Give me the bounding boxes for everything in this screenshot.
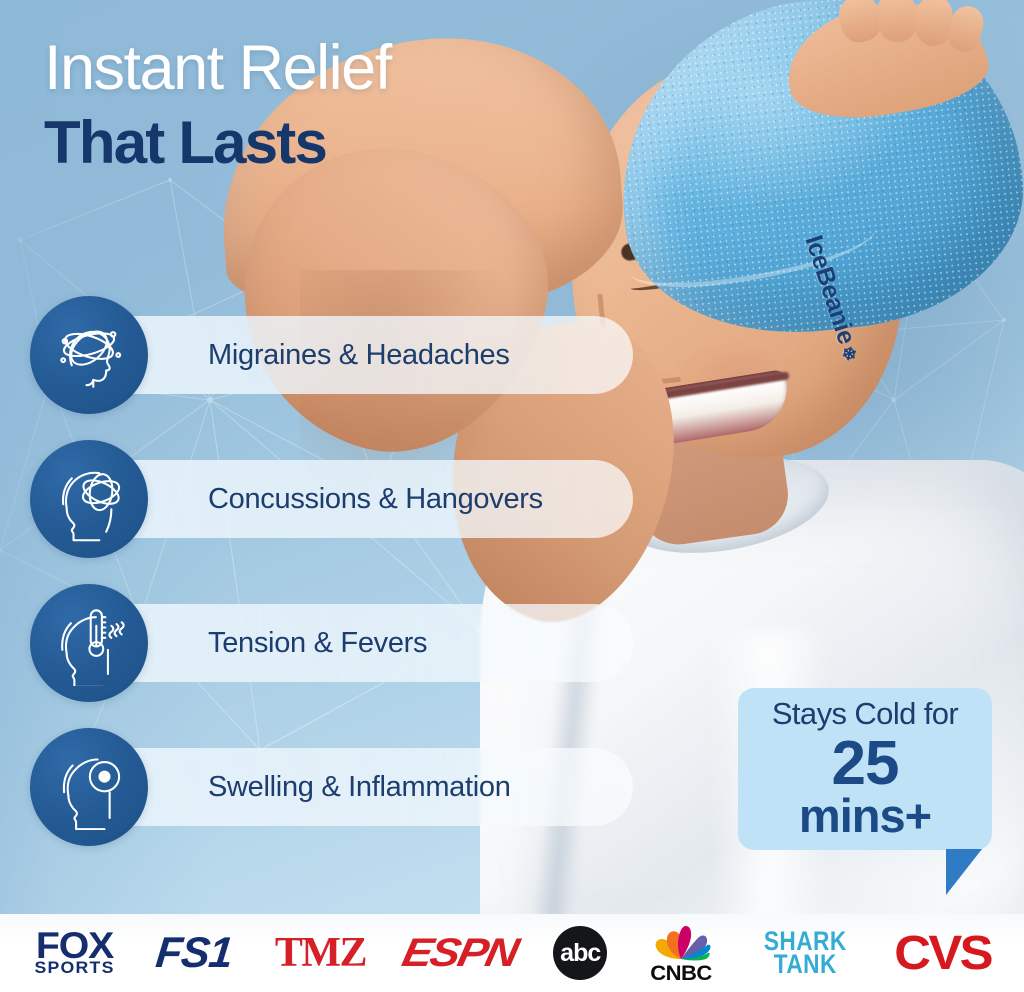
cold-badge-number: 25 — [738, 735, 992, 793]
feature-label: Tension & Fevers — [208, 627, 427, 660]
cold-badge-caption: Stays Cold for — [772, 696, 958, 731]
cold-badge-pointer — [946, 849, 982, 895]
cnbc-text: CNBC — [649, 962, 714, 986]
press-logo-fox-sports: FOX SPORTS — [36, 930, 113, 975]
fox-sports-secondary: SPORTS — [34, 961, 114, 975]
press-logo-shark-tank: SHARK TANK — [756, 930, 855, 976]
press-logo-espn: ESPN — [409, 931, 510, 976]
feature-label: Migraines & Headaches — [208, 339, 510, 372]
tmz-text: TMZ — [275, 929, 366, 977]
cnbc-peacock-icon — [650, 921, 712, 961]
head-thermometer-icon — [30, 584, 148, 702]
press-logo-cnbc: CNBC — [650, 921, 712, 986]
feature-pill: Swelling & Inflammation — [88, 748, 633, 826]
page-title: Instant Relief That Lasts — [44, 38, 391, 173]
press-logo-cvs: CVS — [897, 926, 988, 981]
feature-pill: Migraines & Headaches — [88, 316, 633, 394]
headline-line-1: Instant Relief — [44, 38, 391, 100]
fox-sports-primary: FOX — [33, 930, 115, 961]
head-orbit-icon — [30, 440, 148, 558]
head-dizzy-icon — [30, 296, 148, 414]
espn-text: ESPN — [398, 931, 521, 976]
cold-badge-unit: mins+ — [738, 793, 992, 839]
shark-tank-line-2: TANK — [763, 953, 846, 976]
headline-line-2: That Lasts — [44, 114, 391, 173]
cvs-text: CVS — [894, 926, 991, 981]
abc-text: abc — [553, 926, 607, 980]
fs1-text: FS1 — [153, 929, 234, 978]
press-logo-bar: FOX SPORTS FS1 TMZ ESPN abc — [0, 914, 1024, 992]
feature-pill: Concussions & Hangovers — [88, 460, 633, 538]
head-swelling-icon — [30, 728, 148, 846]
feature-label: Concussions & Hangovers — [208, 483, 543, 516]
feature-pill: Tension & Fevers — [88, 604, 633, 682]
ad-creative: IceBeanie❄ Instant Relief That Lasts Mig… — [0, 0, 1024, 992]
press-logo-abc: abc — [553, 926, 607, 980]
press-logo-tmz: TMZ — [275, 929, 366, 977]
status-badge: Stays Cold for 25 mins+ — [738, 688, 992, 850]
feature-label: Swelling & Inflammation — [208, 771, 511, 804]
press-logo-fs1: FS1 — [156, 929, 232, 978]
